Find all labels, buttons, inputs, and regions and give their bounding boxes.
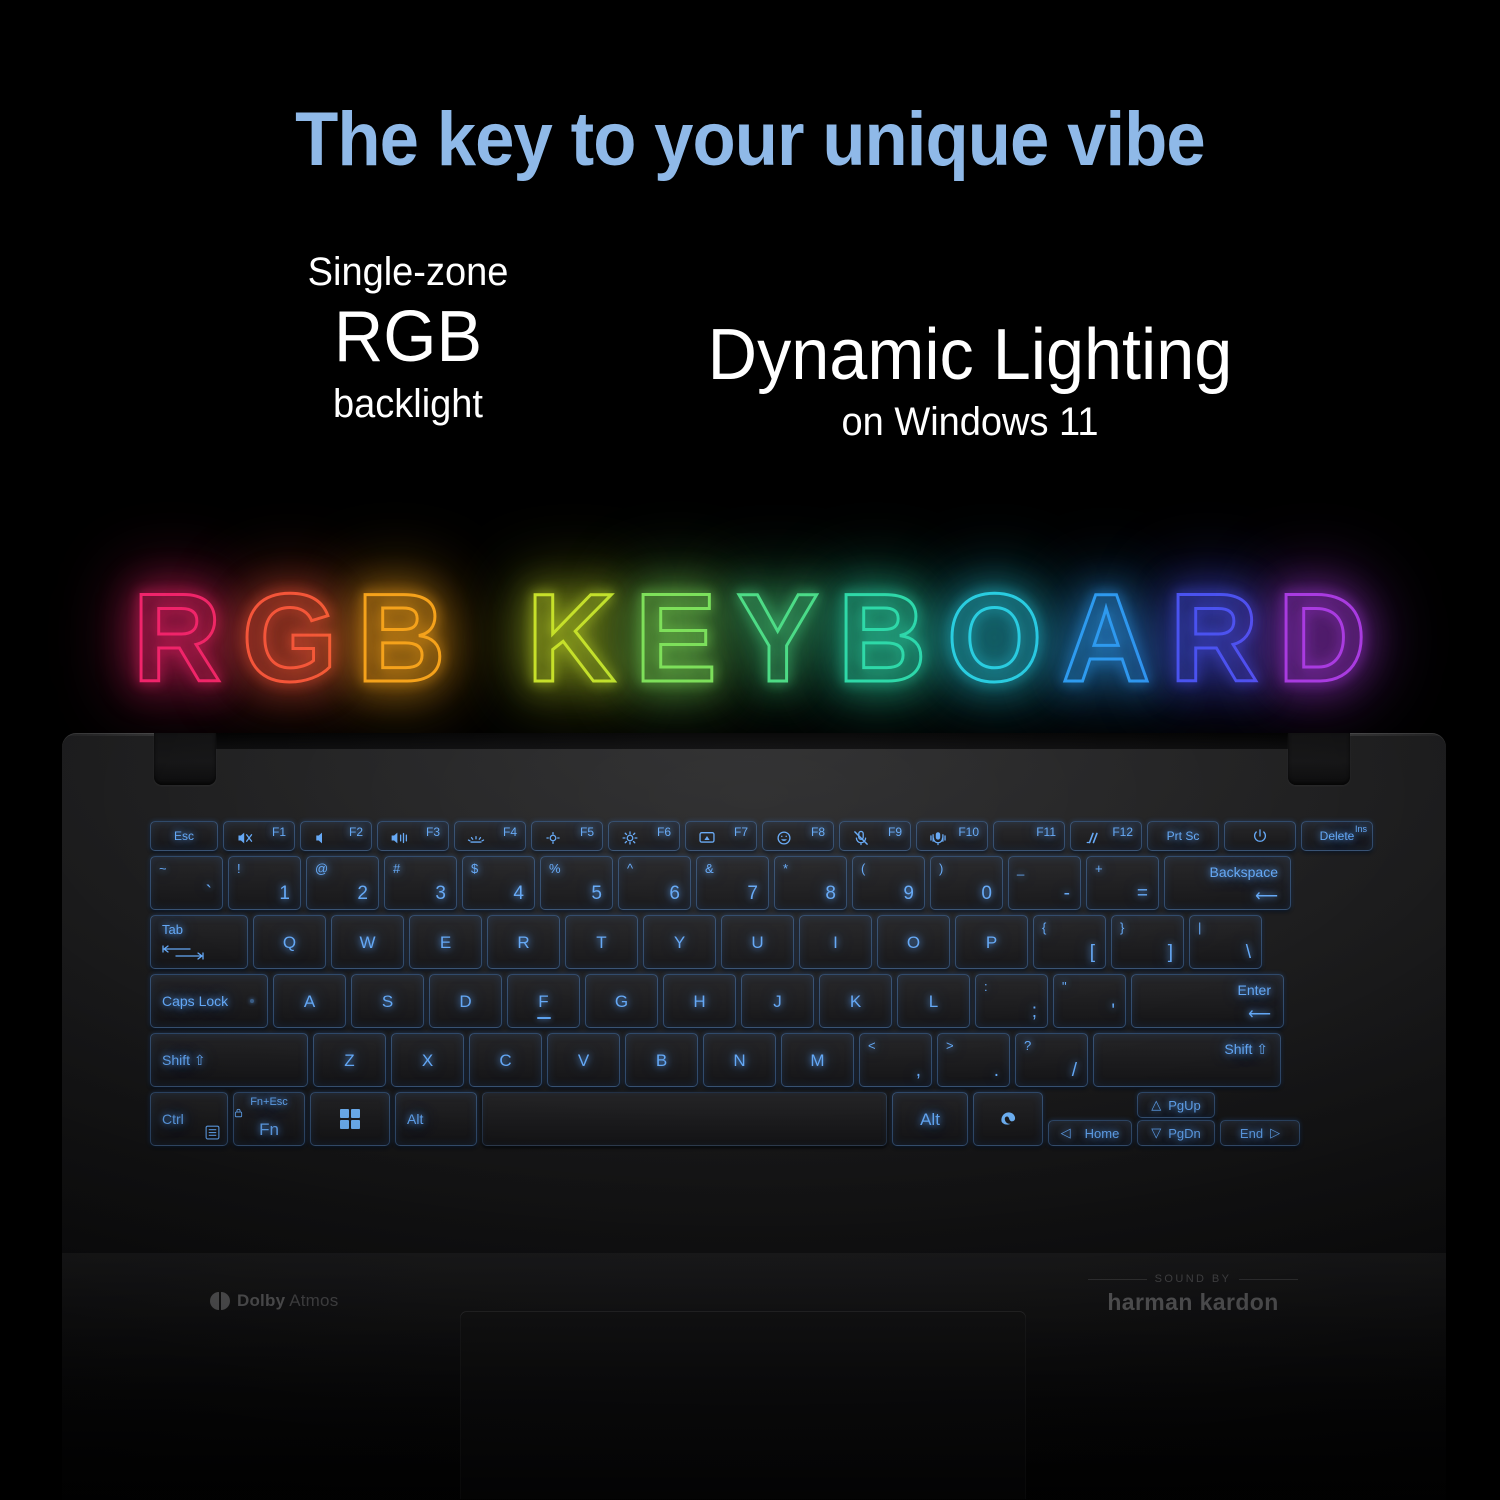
eight-base: 8 bbox=[825, 883, 836, 905]
bracket-right-shift: } bbox=[1120, 920, 1124, 935]
shift-right-label: Shift ⇧ bbox=[1224, 1041, 1268, 1058]
t-label: T bbox=[596, 934, 606, 951]
key-nine[interactable]: (9 bbox=[852, 856, 925, 910]
u-label: U bbox=[751, 934, 763, 951]
key-copilot[interactable] bbox=[973, 1092, 1043, 1146]
dolby-atmos-logo: Dolby Atmos bbox=[210, 1291, 338, 1311]
esc-label: Esc bbox=[174, 830, 194, 842]
w-label: W bbox=[359, 934, 375, 951]
b-label: B bbox=[656, 1052, 667, 1069]
home-bar-indicator bbox=[537, 1017, 551, 1019]
c-label: C bbox=[499, 1052, 511, 1069]
enter-label: Enter bbox=[1238, 982, 1271, 998]
volume-down-icon bbox=[312, 829, 332, 847]
key-r[interactable]: R bbox=[487, 915, 560, 969]
backslash-base: \ bbox=[1246, 942, 1251, 964]
neon-word-keyboard: KEYBOARD bbox=[517, 567, 1376, 710]
bracket-left-shift: { bbox=[1042, 920, 1046, 935]
rule-right bbox=[1239, 1279, 1298, 1280]
key-f6[interactable]: F6 bbox=[608, 821, 680, 851]
volume-up-icon bbox=[389, 829, 409, 847]
neon-letter-y: Y bbox=[728, 567, 827, 710]
zero-base: 0 bbox=[981, 883, 992, 905]
fn-esc-label: Fn+Esc bbox=[234, 1096, 304, 1118]
key-y[interactable]: Y bbox=[643, 915, 716, 969]
mute-icon bbox=[235, 829, 255, 847]
s-label: S bbox=[382, 993, 393, 1010]
neon-letter-o: O bbox=[938, 567, 1051, 710]
neon-letter-a: A bbox=[1053, 567, 1159, 710]
shift-left-label: Shift ⇧ bbox=[162, 1052, 206, 1069]
lock-icon bbox=[234, 1108, 304, 1118]
semicolon-base: ; bbox=[1032, 1001, 1037, 1023]
key-tab[interactable]: Tab bbox=[150, 915, 248, 969]
key-c[interactable]: C bbox=[469, 1033, 542, 1087]
key-space[interactable] bbox=[482, 1092, 887, 1146]
slash-shift: ? bbox=[1024, 1038, 1031, 1053]
x-label: X bbox=[422, 1052, 433, 1069]
brightness-down-icon bbox=[543, 829, 563, 847]
key-print-screen[interactable]: Prt Sc bbox=[1147, 821, 1219, 851]
windows-logo-icon bbox=[338, 1107, 362, 1131]
key-seven[interactable]: &7 bbox=[696, 856, 769, 910]
keyboard-row-qwerty[interactable]: TabQWERTYUIOP{[}]|\ bbox=[150, 915, 1350, 969]
key-s[interactable]: S bbox=[351, 974, 424, 1028]
key-windows[interactable] bbox=[310, 1092, 390, 1146]
key-h[interactable]: H bbox=[663, 974, 736, 1028]
feature-column-backlight: Single-zone RGB backlight bbox=[168, 250, 648, 426]
keyboard[interactable]: EscF1F2F3F4F5F6F7F8F9F10F11F12Prt ScDele… bbox=[150, 821, 1350, 1151]
five-shift: % bbox=[549, 861, 561, 876]
nine-shift: ( bbox=[861, 861, 865, 876]
key-f3[interactable]: F3 bbox=[377, 821, 449, 851]
keyboard-row-function[interactable]: EscF1F2F3F4F5F6F7F8F9F10F11F12Prt ScDele… bbox=[150, 821, 1350, 851]
keyboard-row-number[interactable]: ~`!1@2#3$4%5^6&7*8(9)0_-+=Backspace⟵ bbox=[150, 856, 1350, 910]
neon-letter-r: R bbox=[1161, 567, 1267, 710]
tab-arrows-icon bbox=[162, 944, 204, 960]
quote-base: ' bbox=[1111, 1001, 1115, 1023]
dynamic-lighting-label: Dynamic Lighting bbox=[628, 312, 1312, 400]
quote-shift: " bbox=[1062, 979, 1067, 994]
backtick-base: ` bbox=[206, 883, 212, 905]
neon-letter-b: B bbox=[829, 567, 935, 710]
bracket-right-base: ] bbox=[1168, 942, 1173, 964]
neon-letter-b: B bbox=[348, 567, 454, 710]
a-label: A bbox=[304, 993, 315, 1010]
key-ctrl[interactable]: Ctrl bbox=[150, 1092, 228, 1146]
key-f12[interactable]: F12 bbox=[1070, 821, 1142, 851]
key-page-up[interactable]: △PgUp bbox=[1137, 1092, 1215, 1118]
f3-fkey: F3 bbox=[426, 825, 440, 839]
one-shift: ! bbox=[237, 861, 241, 876]
r-label: R bbox=[517, 934, 529, 951]
f10-fkey: F10 bbox=[958, 825, 979, 839]
arrow-key-cluster[interactable]: ◁Home△PgUp▽PgDnEnd▷ bbox=[1048, 1092, 1300, 1146]
project-display-icon bbox=[697, 829, 717, 847]
key-power[interactable] bbox=[1224, 821, 1296, 851]
key-zero[interactable]: )0 bbox=[930, 856, 1003, 910]
six-shift: ^ bbox=[627, 861, 633, 876]
e-label: E bbox=[440, 934, 451, 951]
key-f8[interactable]: F8 bbox=[762, 821, 834, 851]
key-page-down[interactable]: ▽PgDn bbox=[1137, 1120, 1215, 1146]
home-label: Home bbox=[1085, 1126, 1120, 1141]
atmos-wordmark: Atmos bbox=[285, 1291, 338, 1310]
caps-lock-label: Caps Lock bbox=[162, 993, 228, 1009]
equals-shift: + bbox=[1095, 861, 1103, 876]
equals-base: = bbox=[1137, 883, 1148, 905]
two-shift: @ bbox=[315, 861, 328, 876]
key-delete[interactable]: DeleteIns bbox=[1301, 821, 1373, 851]
microphone-icon bbox=[928, 829, 948, 847]
key-b[interactable]: B bbox=[625, 1033, 698, 1087]
key-four[interactable]: $4 bbox=[462, 856, 535, 910]
backslash-shift: | bbox=[1198, 920, 1201, 935]
end-label: End bbox=[1240, 1126, 1263, 1141]
f7-fkey: F7 bbox=[734, 825, 748, 839]
arrow-left-icon: ◁ bbox=[1061, 1125, 1071, 1141]
ctrl-label: Ctrl bbox=[162, 1111, 184, 1127]
key-eight[interactable]: *8 bbox=[774, 856, 847, 910]
key-e[interactable]: E bbox=[409, 915, 482, 969]
key-semicolon[interactable]: :; bbox=[975, 974, 1048, 1028]
prt-sc-label: Prt Sc bbox=[1167, 830, 1200, 842]
dolby-wordmark: Dolby bbox=[237, 1291, 285, 1310]
key-w[interactable]: W bbox=[331, 915, 404, 969]
key-two[interactable]: @2 bbox=[306, 856, 379, 910]
semicolon-shift: : bbox=[984, 979, 988, 994]
trackpad[interactable] bbox=[460, 1311, 1026, 1499]
three-base: 3 bbox=[435, 883, 446, 905]
neon-letter-k: K bbox=[518, 567, 624, 710]
neon-letter-e: E bbox=[626, 567, 725, 710]
key-u[interactable]: U bbox=[721, 915, 794, 969]
m-label: M bbox=[810, 1052, 824, 1069]
l-label: L bbox=[929, 993, 938, 1010]
key-g[interactable]: G bbox=[585, 974, 658, 1028]
copilot-icon bbox=[995, 1106, 1021, 1132]
fn-label: Fn bbox=[234, 1120, 304, 1140]
one-base: 1 bbox=[279, 883, 290, 905]
bracket-left-base: [ bbox=[1090, 942, 1095, 964]
key-five[interactable]: %5 bbox=[540, 856, 613, 910]
key-a[interactable]: A bbox=[273, 974, 346, 1028]
f2-fkey: F2 bbox=[349, 825, 363, 839]
three-shift: # bbox=[393, 861, 400, 876]
arrow-down-icon: ▽ bbox=[1151, 1125, 1161, 1141]
six-base: 6 bbox=[669, 883, 680, 905]
emoji-icon bbox=[774, 829, 794, 847]
y-label: Y bbox=[674, 934, 685, 951]
keyboard-row-home[interactable]: Caps LockASDFGHJKL:;"'Enter⟵ bbox=[150, 974, 1350, 1028]
neon-letter-r: R bbox=[124, 567, 230, 710]
pgdn-label: PgDn bbox=[1168, 1126, 1201, 1141]
keyboard-row-shift[interactable]: Shift ⇧ZXCVBNM<,>.?/Shift ⇧ bbox=[150, 1033, 1350, 1087]
o-label: O bbox=[907, 934, 920, 951]
backtick-shift: ~ bbox=[159, 861, 167, 876]
caps-lock-indicator bbox=[250, 999, 254, 1003]
d-label: D bbox=[459, 993, 471, 1010]
backspace-label: Backspace bbox=[1210, 864, 1278, 880]
hinge-recess bbox=[180, 733, 1324, 749]
key-fn[interactable]: Fn+Esc Fn bbox=[233, 1092, 305, 1146]
harman-kardon-logo: SOUND BY harman kardon bbox=[1088, 1273, 1298, 1316]
backlight-label: backlight bbox=[180, 382, 636, 426]
key-q[interactable]: Q bbox=[253, 915, 326, 969]
harman-kardon-wordmark: harman kardon bbox=[1088, 1289, 1298, 1316]
keyboard-row-bottom[interactable]: CtrlFn+Esc FnAltAlt◁Home△PgUp▽PgDnEnd▷ bbox=[150, 1092, 1350, 1146]
key-home[interactable]: ◁Home bbox=[1048, 1120, 1132, 1146]
zero-shift: ) bbox=[939, 861, 943, 876]
key-f11[interactable]: F11 bbox=[993, 821, 1065, 851]
arrow-up-icon: △ bbox=[1151, 1097, 1161, 1113]
alt-left-label: Alt bbox=[407, 1111, 423, 1127]
sound-by-row: SOUND BY bbox=[1088, 1273, 1298, 1285]
key-alt-right[interactable]: Alt bbox=[892, 1092, 968, 1146]
microphone-mute-icon bbox=[851, 829, 871, 847]
laptop-deck: EscF1F2F3F4F5F6F7F8F9F10F11F12Prt ScDele… bbox=[62, 733, 1446, 1500]
key-f2[interactable]: F2 bbox=[300, 821, 372, 851]
delete-label: Delete bbox=[1320, 830, 1355, 842]
g-label: G bbox=[615, 993, 628, 1010]
feature-column-dynamic-lighting: Dynamic Lighting on Windows 11 bbox=[610, 312, 1330, 444]
sound-by-label: SOUND BY bbox=[1155, 1273, 1232, 1285]
key-f1[interactable]: F1 bbox=[223, 821, 295, 851]
neon-wordmark: RGB KEYBOARD bbox=[0, 568, 1500, 708]
hinge-left bbox=[154, 733, 216, 785]
key-backspace[interactable]: Backspace⟵ bbox=[1164, 856, 1291, 910]
neon-letter-g: G bbox=[233, 567, 346, 710]
single-zone-label: Single-zone bbox=[180, 250, 636, 294]
key-quote[interactable]: "' bbox=[1053, 974, 1126, 1028]
backspace-arrow-icon: ⟵ bbox=[1255, 886, 1278, 906]
pgup-label: PgUp bbox=[1168, 1098, 1201, 1113]
key-j[interactable]: J bbox=[741, 974, 814, 1028]
key-n[interactable]: N bbox=[703, 1033, 776, 1087]
hinge-right bbox=[1288, 733, 1350, 785]
key-z[interactable]: Z bbox=[313, 1033, 386, 1087]
f12-fkey: F12 bbox=[1112, 825, 1133, 839]
four-shift: $ bbox=[471, 861, 478, 876]
arrow-right-icon: ▷ bbox=[1270, 1125, 1280, 1141]
keyboard-backlight-icon bbox=[466, 829, 486, 847]
dolby-double-d-icon bbox=[210, 1292, 230, 1310]
five-base: 5 bbox=[591, 883, 602, 905]
comma-base: , bbox=[916, 1060, 921, 1082]
f5-fkey: F5 bbox=[580, 825, 594, 839]
seven-shift: & bbox=[705, 861, 714, 876]
neon-letter-d: D bbox=[1269, 567, 1375, 710]
f4-fkey: F4 bbox=[503, 825, 517, 839]
rgb-label: RGB bbox=[180, 294, 636, 382]
f8-fkey: F8 bbox=[811, 825, 825, 839]
key-backtick[interactable]: ~` bbox=[150, 856, 223, 910]
key-k[interactable]: K bbox=[819, 974, 892, 1028]
key-six[interactable]: ^6 bbox=[618, 856, 691, 910]
key-bracket-left[interactable]: {[ bbox=[1033, 915, 1106, 969]
f9-fkey: F9 bbox=[888, 825, 902, 839]
rule-left bbox=[1088, 1279, 1147, 1280]
alt-right-label: Alt bbox=[920, 1111, 940, 1128]
power-icon bbox=[1250, 827, 1270, 845]
f11-fkey: F11 bbox=[1036, 825, 1056, 839]
two-base: 2 bbox=[357, 883, 368, 905]
tab-label: Tab bbox=[162, 922, 183, 937]
period-shift: > bbox=[946, 1038, 954, 1053]
key-backslash[interactable]: |\ bbox=[1189, 915, 1262, 969]
feature-subcopy: Single-zone RGB backlight Dynamic Lighti… bbox=[0, 250, 1500, 500]
page-title: The key to your unique vibe bbox=[53, 96, 1448, 183]
f-label: F bbox=[538, 993, 548, 1010]
key-d[interactable]: D bbox=[429, 974, 502, 1028]
key-shift-right[interactable]: Shift ⇧ bbox=[1093, 1033, 1281, 1087]
key-t[interactable]: T bbox=[565, 915, 638, 969]
key-f10[interactable]: F10 bbox=[916, 821, 988, 851]
key-f4[interactable]: F4 bbox=[454, 821, 526, 851]
key-v[interactable]: V bbox=[547, 1033, 620, 1087]
key-bracket-right[interactable]: }] bbox=[1111, 915, 1184, 969]
f6-fkey: F6 bbox=[657, 825, 671, 839]
key-alt-left[interactable]: Alt bbox=[395, 1092, 477, 1146]
comma-shift: < bbox=[868, 1038, 876, 1053]
z-label: Z bbox=[344, 1052, 354, 1069]
key-end[interactable]: End▷ bbox=[1220, 1120, 1300, 1146]
slash-base: / bbox=[1072, 1060, 1077, 1082]
neon-word-rgb: RGB bbox=[123, 567, 455, 710]
four-base: 4 bbox=[513, 883, 524, 905]
ins-label: Ins bbox=[1355, 824, 1367, 834]
key-three[interactable]: #3 bbox=[384, 856, 457, 910]
p-label: P bbox=[986, 934, 997, 951]
key-one[interactable]: !1 bbox=[228, 856, 301, 910]
key-m[interactable]: M bbox=[781, 1033, 854, 1087]
key-minus[interactable]: _- bbox=[1008, 856, 1081, 910]
minus-shift: _ bbox=[1017, 861, 1024, 876]
key-comma[interactable]: <, bbox=[859, 1033, 932, 1087]
h-label: H bbox=[693, 993, 705, 1010]
key-slash[interactable]: ?/ bbox=[1015, 1033, 1088, 1087]
key-p[interactable]: P bbox=[955, 915, 1028, 969]
key-shift-left[interactable]: Shift ⇧ bbox=[150, 1033, 308, 1087]
key-caps-lock[interactable]: Caps Lock bbox=[150, 974, 268, 1028]
key-esc[interactable]: Esc bbox=[150, 821, 218, 851]
brightness-up-icon bbox=[620, 829, 640, 847]
key-x[interactable]: X bbox=[391, 1033, 464, 1087]
v-label: V bbox=[578, 1052, 589, 1069]
i-label: I bbox=[833, 934, 838, 951]
key-l[interactable]: L bbox=[897, 974, 970, 1028]
key-f5[interactable]: F5 bbox=[531, 821, 603, 851]
enter-arrow-icon: ⟵ bbox=[1248, 1004, 1271, 1024]
j-label: J bbox=[773, 993, 782, 1010]
key-i[interactable]: I bbox=[799, 915, 872, 969]
n-label: N bbox=[733, 1052, 745, 1069]
seven-base: 7 bbox=[747, 883, 758, 905]
k-label: K bbox=[850, 993, 861, 1010]
key-f[interactable]: F bbox=[507, 974, 580, 1028]
key-f9[interactable]: F9 bbox=[839, 821, 911, 851]
key-enter[interactable]: Enter⟵ bbox=[1131, 974, 1284, 1028]
menu-icon bbox=[205, 1125, 220, 1140]
on-windows-11-label: on Windows 11 bbox=[628, 400, 1312, 444]
eight-shift: * bbox=[783, 861, 788, 876]
period-base: . bbox=[994, 1060, 999, 1082]
myasus-icon bbox=[1082, 829, 1102, 847]
key-period[interactable]: >. bbox=[937, 1033, 1010, 1087]
key-o[interactable]: O bbox=[877, 915, 950, 969]
nine-base: 9 bbox=[903, 883, 914, 905]
f1-fkey: F1 bbox=[272, 825, 286, 839]
key-f7[interactable]: F7 bbox=[685, 821, 757, 851]
q-label: Q bbox=[283, 934, 296, 951]
minus-base: - bbox=[1064, 883, 1070, 905]
key-equals[interactable]: += bbox=[1086, 856, 1159, 910]
